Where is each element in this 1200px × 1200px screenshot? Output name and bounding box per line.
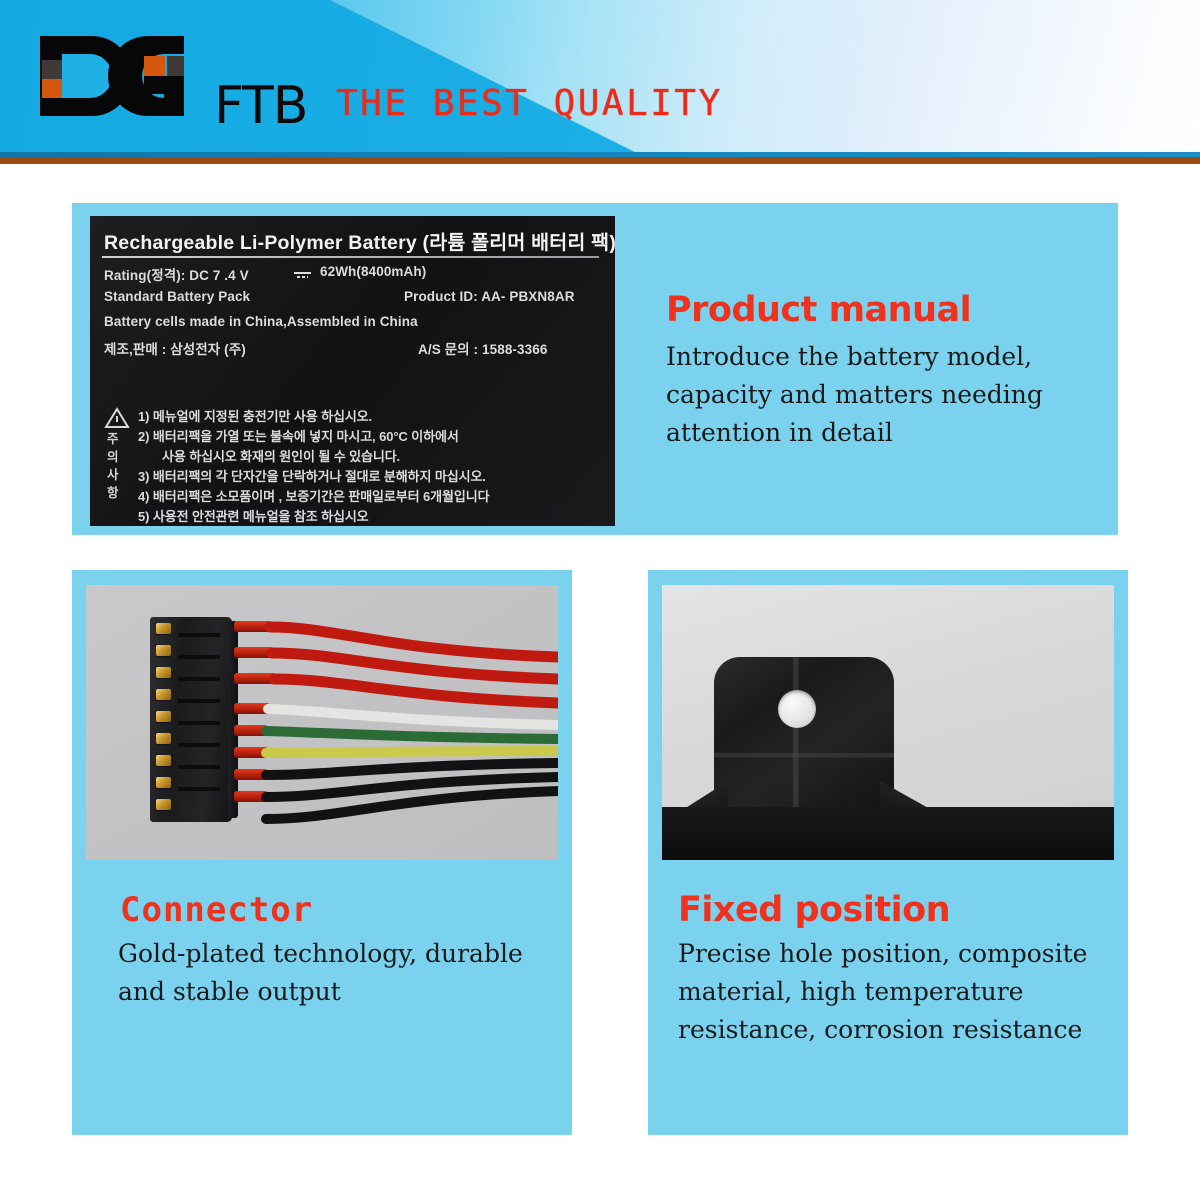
dc-symbol-icon <box>294 272 311 279</box>
product-manual-heading: Product manual <box>666 290 971 330</box>
connector-body: Gold-plated technology, durable and stab… <box>118 935 558 1011</box>
page-header: FTB THE BEST QUALITY <box>0 0 1200 152</box>
label-warning-5: 5) 사용전 안전관련 메뉴얼을 참조 하십시오 <box>138 506 369 525</box>
fixed-position-photo <box>662 585 1114 860</box>
label-as-contact: A/S 문의 : 1588-3366 <box>418 338 547 358</box>
label-warning-1: 1) 메뉴얼에 지정된 충전기만 사용 하십시오. <box>138 406 372 425</box>
label-manufacturer: 제조,판매 : 삼성전자 (주) <box>104 338 246 358</box>
label-warning-4: 4) 배터리팩은 소모품이며 , 보증기간은 판매일로부터 6개월입니다 <box>138 486 489 505</box>
label-product-id: Product ID: AA- PBXN8AR <box>404 289 575 304</box>
wire-red <box>274 679 558 703</box>
label-rating-value: 62Wh(8400mAh) <box>320 264 426 279</box>
label-warning-2b: 사용 하십시오 화재의 원인이 될 수 있습니다. <box>162 446 400 465</box>
label-title-underline <box>102 256 599 258</box>
wire-white <box>268 709 558 725</box>
tab-fillet-left <box>684 781 728 809</box>
wire-green <box>266 731 558 739</box>
battery-label-photo: Rechargeable Li-Polymer Battery (라튬 폴리머 … <box>90 216 615 526</box>
panel-fixed-position <box>648 570 1128 1135</box>
product-manual-body: Introduce the battery model, capacity an… <box>666 338 1096 452</box>
mounting-hole <box>778 690 816 728</box>
label-standard-pack: Standard Battery Pack <box>104 289 250 304</box>
connector-photo <box>86 585 558 860</box>
logo-suffix-text: FTB <box>214 80 307 132</box>
label-warning-2: 2) 배터리팩을 가열 또는 불속에 넣지 마시고, 60°C 이하에서 <box>138 426 459 445</box>
connector-heading: Connector <box>120 890 313 930</box>
brand-logo: FTB <box>36 32 286 120</box>
panel-connector <box>72 570 572 1135</box>
connector-wire-bundle <box>86 585 558 860</box>
header-divider-brown <box>0 157 1200 164</box>
warning-triangle-icon <box>104 407 130 429</box>
tab-fillet-right <box>880 781 930 809</box>
label-title: Rechargeable Li-Polymer Battery (라튬 폴리머 … <box>104 226 615 255</box>
wire-black <box>266 763 558 775</box>
fixed-position-body: Precise hole position, composite materia… <box>678 935 1098 1049</box>
fixed-position-heading: Fixed position <box>678 890 950 930</box>
label-cells-origin: Battery cells made in China,Assembled in… <box>104 314 418 329</box>
mounting-tab <box>714 657 894 812</box>
wire-yellow <box>266 751 558 753</box>
battery-body-edge <box>662 807 1114 860</box>
mounting-tab-ribs <box>714 657 894 812</box>
label-warning-3: 3) 배터리팩의 각 단자간을 단락하거나 절대로 분해하지 마십시오. <box>138 466 486 485</box>
tagline-text: THE BEST QUALITY <box>336 83 723 124</box>
label-caution-column: 주 의 사 항 <box>107 430 119 502</box>
label-rating: Rating(정격): DC 7 .4 V <box>104 264 249 284</box>
